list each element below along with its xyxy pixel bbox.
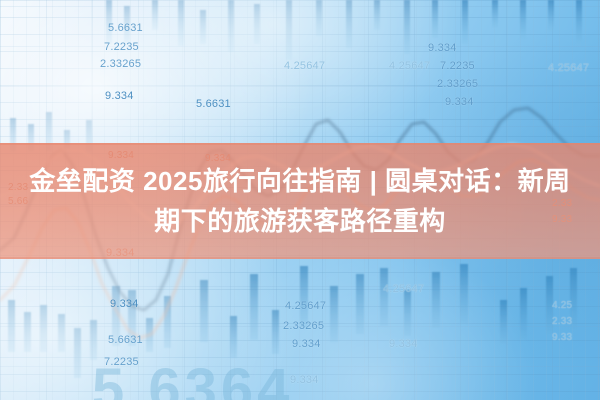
chart-tick-label: 2.33 — [552, 316, 572, 327]
banner-title-line-1: 金垒配资 2025旅行向往指南 | 圆桌对话：新周 — [29, 162, 570, 200]
chart-tick-label: 7.2235 — [104, 356, 139, 368]
chart-tick-label: 9.334 — [445, 96, 474, 108]
chart-tick-label: 9.33 — [552, 332, 572, 343]
chart-tick-label: 9.334 — [292, 338, 321, 350]
chart-tick-label: 7.2235 — [104, 41, 139, 53]
chart-tick-label: 4.25647 — [285, 300, 326, 312]
chart-tick-label: 2.33265 — [437, 78, 478, 90]
chart-tick-label: 4.25647 — [389, 60, 430, 72]
chart-tick-label: 2.33265 — [100, 58, 141, 70]
banner-title: 金垒配资 2025旅行向往指南 | 圆桌对话：新周 期下的旅游获客路径重构 — [0, 143, 600, 259]
chart-tick-label: 9.334 — [105, 90, 134, 102]
chart-tick-label: 7.2235 — [440, 60, 475, 72]
chart-tick-label: 9.334 — [389, 338, 418, 350]
chart-tick-label: 4.25647 — [383, 283, 424, 295]
chart-tick-label: 4.25647 — [284, 60, 325, 72]
banner-title-line-2: 期下的旅游获客路径重构 — [154, 202, 446, 240]
chart-tick-label: 9.334 — [428, 42, 457, 54]
screenshot-canvas: 5.6364 5.66317.22352.332654.256474.25647… — [0, 0, 600, 400]
chart-tick-label: 4.25647 — [548, 62, 589, 74]
chart-tick-label: 9.334 — [110, 298, 139, 310]
chart-tick-label: 5.6631 — [108, 22, 143, 34]
chart-tick-label: 2.33265 — [283, 320, 324, 332]
chart-tick-label: 5.6631 — [108, 334, 143, 346]
chart-tick-label: 5.6631 — [196, 98, 231, 110]
chart-tick-label: 4.25 — [552, 300, 572, 311]
chart-tick-label: 9.334 — [290, 374, 319, 386]
